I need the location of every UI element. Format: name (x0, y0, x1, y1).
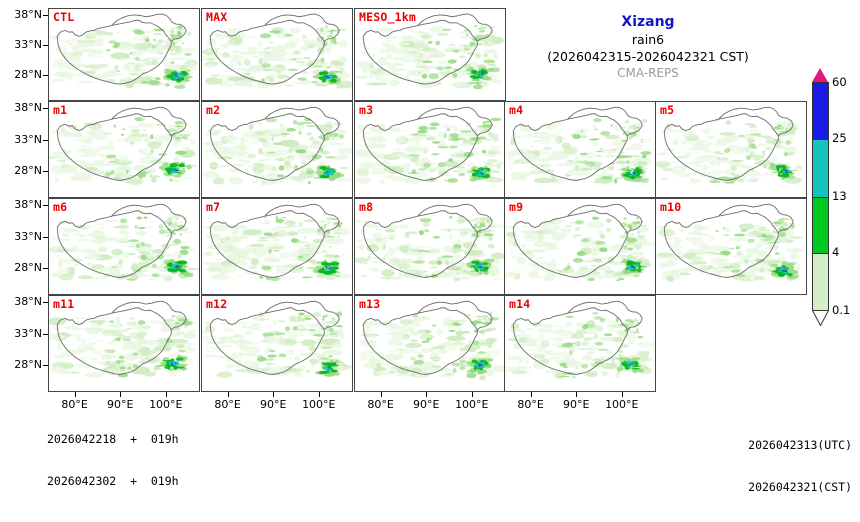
footer-init-line-1: 2026042218 + 019h (47, 432, 179, 446)
y-axis-tick (43, 365, 48, 366)
colorbar-band-4-13 (813, 197, 828, 254)
title-region: Xizang (492, 14, 804, 31)
colorbar-band-25-60 (813, 83, 828, 139)
panel-label-m3: m3 (359, 103, 373, 117)
colorbar-band-0.1-4 (813, 253, 828, 312)
colorbar-band-13-25 (813, 139, 828, 198)
x-axis-label: 80°E (206, 398, 250, 411)
y-axis-tick (43, 205, 48, 206)
y-axis-label: 28°N (0, 358, 42, 371)
panel-meso_1km[interactable]: MESO_1km (354, 8, 506, 101)
x-axis-tick (576, 392, 577, 397)
colorbar-tick-4: 4 (832, 245, 839, 259)
x-axis-label: 100°E (600, 398, 644, 411)
x-axis-tick (273, 392, 274, 397)
panel-m6[interactable]: m6 (48, 198, 200, 295)
title-period: (2026042315-2026042321 CST) (492, 48, 804, 65)
x-axis-label: 80°E (509, 398, 553, 411)
panel-label-m7: m7 (206, 200, 220, 214)
title-variable: rain6 (492, 31, 804, 48)
y-axis-label: 38°N (0, 198, 42, 211)
x-axis-tick (381, 392, 382, 397)
y-axis-tick (43, 334, 48, 335)
colorbar-body (812, 82, 829, 310)
panel-max[interactable]: MAX (201, 8, 353, 101)
x-axis-label: 90°E (251, 398, 295, 411)
panel-m13[interactable]: m13 (354, 295, 506, 392)
panel-label-m5: m5 (660, 103, 674, 117)
panel-label-max: MAX (206, 10, 227, 24)
x-axis-tick (228, 392, 229, 397)
x-axis-label: 100°E (297, 398, 341, 411)
x-axis-label: 80°E (359, 398, 403, 411)
colorbar-under-arrow (812, 310, 829, 326)
footer-init-line-2: 2026042302 + 019h (47, 474, 179, 488)
panel-m7[interactable]: m7 (201, 198, 353, 295)
y-axis-tick (43, 108, 48, 109)
x-axis-label: 90°E (554, 398, 598, 411)
y-axis-label: 28°N (0, 164, 42, 177)
panel-m2[interactable]: m2 (201, 101, 353, 198)
y-axis-tick (43, 140, 48, 141)
y-axis-tick (43, 45, 48, 46)
x-axis-label: 90°E (404, 398, 448, 411)
figure-canvas: Xizang rain6 (2026042315-2026042321 CST)… (0, 0, 860, 448)
colorbar-tick-0.1: 0.1 (832, 303, 850, 317)
panel-m12[interactable]: m12 (201, 295, 353, 392)
x-axis-tick (166, 392, 167, 397)
y-axis-tick (43, 75, 48, 76)
y-axis-label: 28°N (0, 261, 42, 274)
panel-ctl[interactable]: CTL (48, 8, 200, 101)
footer-init-times: 2026042218 + 019h 2026042302 + 019h (47, 404, 179, 516)
y-axis-tick (43, 171, 48, 172)
y-axis-tick (43, 15, 48, 16)
panel-label-ctl: CTL (53, 10, 74, 24)
y-axis-label: 28°N (0, 68, 42, 81)
y-axis-label: 33°N (0, 230, 42, 243)
panel-label-m12: m12 (206, 297, 227, 311)
x-axis-tick (622, 392, 623, 397)
colorbar-tick-13: 13 (832, 189, 847, 203)
panel-label-m10: m10 (660, 200, 681, 214)
y-axis-label: 38°N (0, 295, 42, 308)
panel-label-m8: m8 (359, 200, 373, 214)
panel-m9[interactable]: m9 (504, 198, 656, 295)
panel-m8[interactable]: m8 (354, 198, 506, 295)
panel-label-m13: m13 (359, 297, 380, 311)
y-axis-label: 38°N (0, 8, 42, 21)
panel-label-m6: m6 (53, 200, 67, 214)
colorbar[interactable]: 60 25 13 4 0.1 (812, 68, 829, 326)
x-axis-tick (472, 392, 473, 397)
y-axis-label: 33°N (0, 38, 42, 51)
footer-valid-utc: 2026042313(UTC) (748, 438, 852, 452)
panel-label-m4: m4 (509, 103, 523, 117)
panel-m4[interactable]: m4 (504, 101, 656, 198)
panel-label-m14: m14 (509, 297, 530, 311)
colorbar-over-arrow (812, 68, 828, 82)
y-axis-tick (43, 268, 48, 269)
panel-label-m9: m9 (509, 200, 523, 214)
x-axis-tick (75, 392, 76, 397)
panel-m1[interactable]: m1 (48, 101, 200, 198)
colorbar-tick-60: 60 (832, 75, 847, 89)
panel-m14[interactable]: m14 (504, 295, 656, 392)
x-axis-label: 100°E (450, 398, 494, 411)
y-axis-label: 33°N (0, 133, 42, 146)
y-axis-tick (43, 302, 48, 303)
panel-m11[interactable]: m11 (48, 295, 200, 392)
title-block: Xizang rain6 (2026042315-2026042321 CST)… (492, 14, 804, 82)
panel-m10[interactable]: m10 (655, 198, 807, 295)
x-axis-tick (426, 392, 427, 397)
x-axis-tick (531, 392, 532, 397)
x-axis-tick (120, 392, 121, 397)
panel-m5[interactable]: m5 (655, 101, 807, 198)
title-source: CMA-REPS (492, 65, 804, 82)
panel-label-m11: m11 (53, 297, 74, 311)
panel-m3[interactable]: m3 (354, 101, 506, 198)
x-axis-tick (319, 392, 320, 397)
panel-label-meso_1km: MESO_1km (359, 10, 416, 24)
colorbar-tick-25: 25 (832, 131, 847, 145)
footer-valid-times: 2026042313(UTC) 2026042321(CST) (748, 410, 852, 522)
y-axis-label: 33°N (0, 327, 42, 340)
panel-label-m1: m1 (53, 103, 67, 117)
panel-label-m2: m2 (206, 103, 220, 117)
y-axis-tick (43, 237, 48, 238)
footer-valid-cst: 2026042321(CST) (748, 480, 852, 494)
y-axis-label: 38°N (0, 101, 42, 114)
